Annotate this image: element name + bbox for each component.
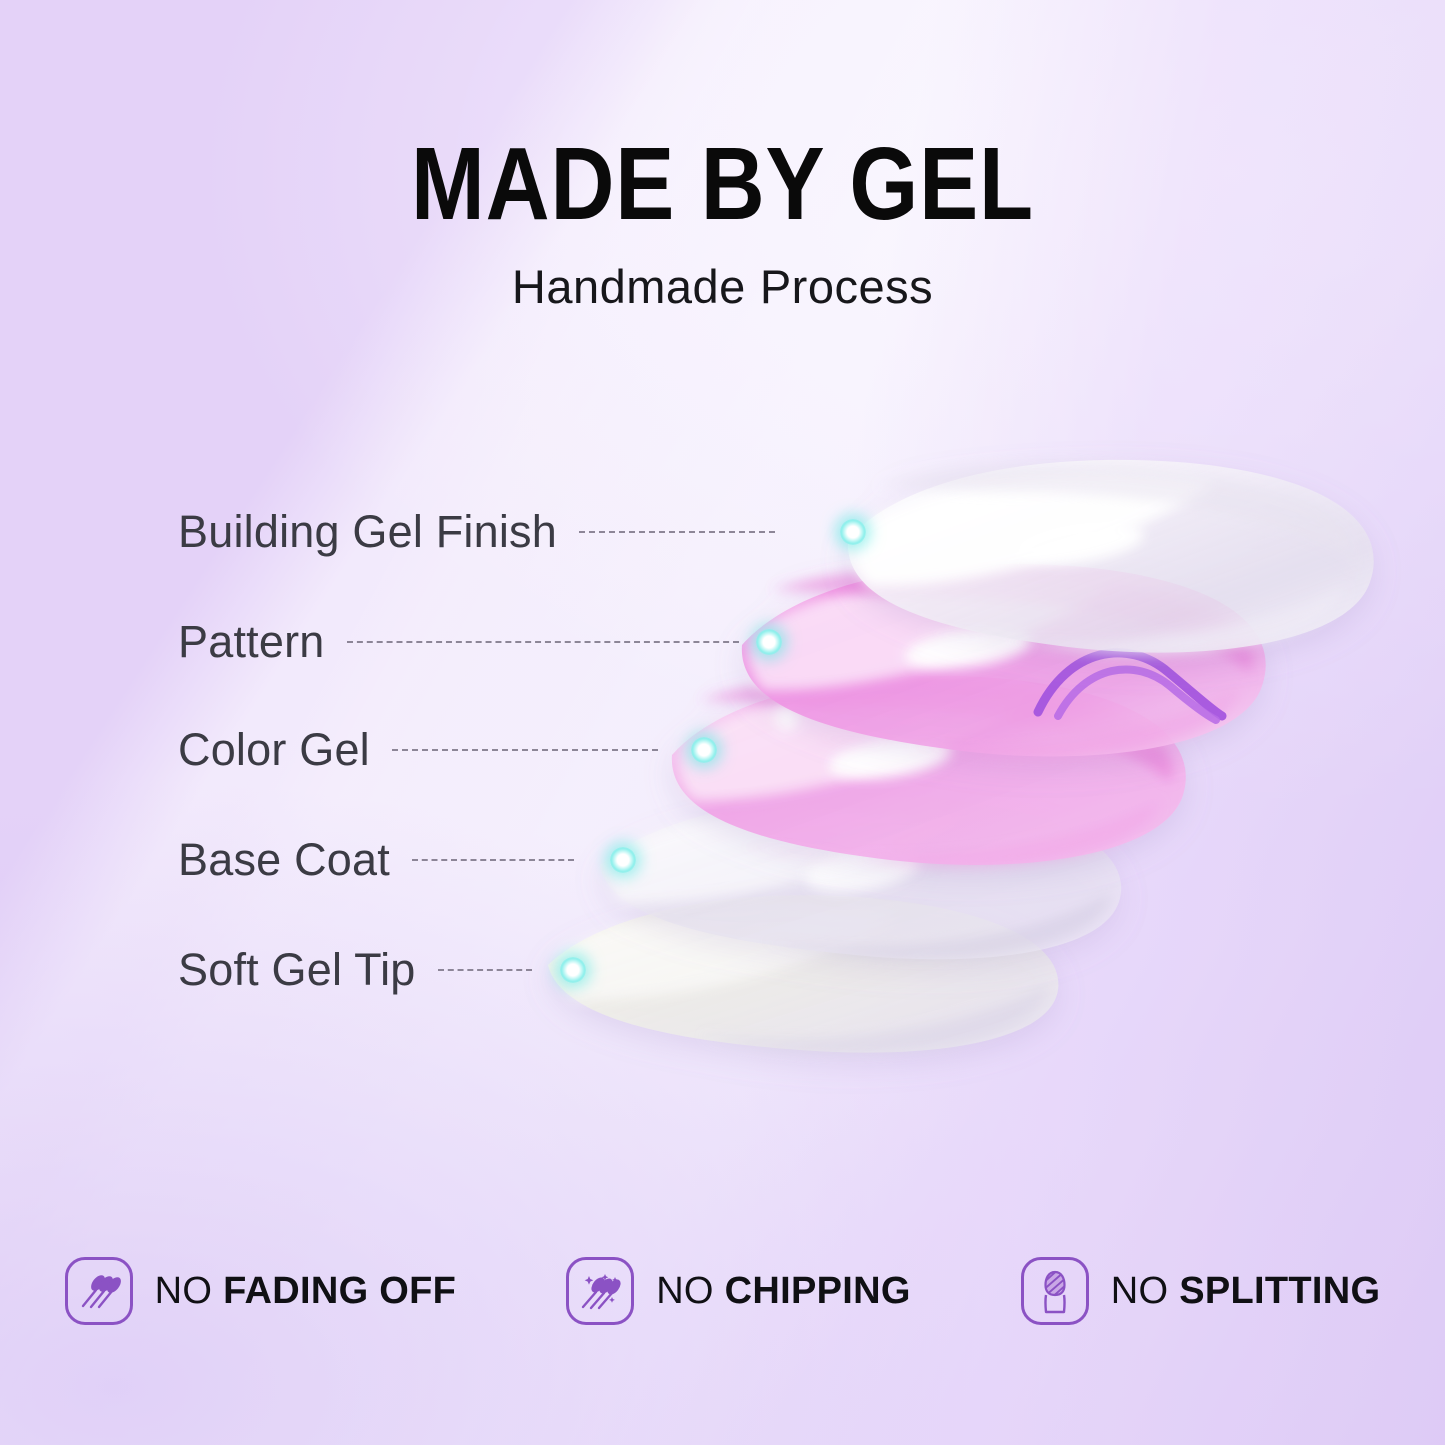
feature-badge-row: NO FADING OFF (0, 1257, 1445, 1325)
layer-marker-pattern (756, 629, 782, 655)
leader-line-building-gel-finish (579, 531, 775, 533)
layer-label-list: Building Gel Finish Pattern Color Gel Ba… (0, 0, 1445, 1445)
three-nails-sparkle-icon (566, 1257, 634, 1325)
layer-marker-color-gel (691, 737, 717, 763)
feature-no-chipping[interactable]: NO CHIPPING (566, 1257, 911, 1325)
three-nails-icon (65, 1257, 133, 1325)
layer-row-color-gel[interactable]: Color Gel (178, 720, 658, 780)
poster-canvas: MADE BY GEL HandmadeProcess (0, 0, 1445, 1445)
feature-no-fading-off[interactable]: NO FADING OFF (65, 1257, 457, 1325)
feature-label-no-fading-off: NO FADING OFF (155, 1270, 457, 1313)
feature-claim-splitting: SPLITTING (1179, 1270, 1380, 1312)
leader-line-base-coat (412, 859, 574, 861)
feature-label-no-chipping: NO CHIPPING (656, 1270, 911, 1313)
feature-prefix-no-splitting: NO (1111, 1270, 1169, 1312)
feature-claim-chipping: CHIPPING (725, 1270, 911, 1312)
layer-row-base-coat[interactable]: Base Coat (178, 830, 574, 890)
feature-label-no-splitting: NO SPLITTING (1111, 1270, 1381, 1313)
layer-marker-base-coat (610, 847, 636, 873)
layer-row-pattern[interactable]: Pattern (178, 612, 739, 672)
leader-line-color-gel (392, 749, 658, 751)
layer-row-soft-gel-tip[interactable]: Soft Gel Tip (178, 940, 532, 1000)
layer-label-color-gel: Color Gel (178, 724, 370, 776)
layer-label-pattern: Pattern (178, 616, 325, 668)
layer-row-building-gel-finish[interactable]: Building Gel Finish (178, 502, 775, 562)
layer-label-soft-gel-tip: Soft Gel Tip (178, 944, 416, 996)
feature-claim-fading-off: FADING OFF (223, 1270, 456, 1312)
layer-marker-soft-gel-tip (560, 957, 586, 983)
feature-prefix-no-chipping: NO (656, 1270, 714, 1312)
feature-no-splitting[interactable]: NO SPLITTING (1021, 1257, 1381, 1325)
leader-line-pattern (347, 641, 739, 643)
leader-line-soft-gel-tip (438, 969, 532, 971)
layer-marker-building-gel-finish (840, 519, 866, 545)
layer-label-building-gel-finish: Building Gel Finish (178, 506, 557, 558)
striped-nail-finger-icon (1021, 1257, 1089, 1325)
feature-prefix-no-fading-off: NO (155, 1270, 213, 1312)
layer-label-base-coat: Base Coat (178, 834, 390, 886)
